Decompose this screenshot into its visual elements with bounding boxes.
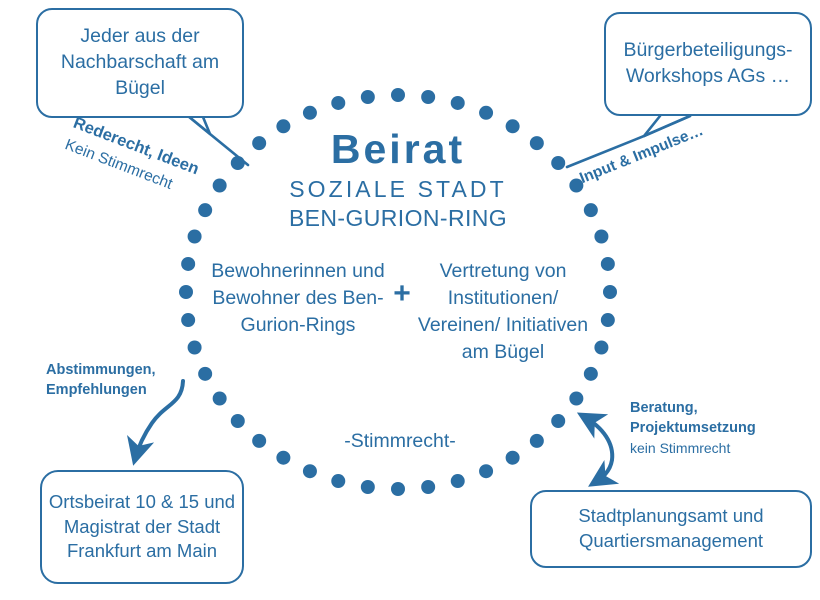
- ring-dot: [188, 341, 202, 355]
- ring-dot: [361, 480, 375, 494]
- label-beratung-line3: kein Stimmrecht: [630, 439, 798, 459]
- ring-dot: [530, 434, 544, 448]
- box-ortsbeirat-magistrat[interactable]: Ortsbeirat 10 & 15 und Magistrat der Sta…: [40, 470, 244, 584]
- ring-dot: [331, 474, 345, 488]
- ring-dot: [451, 96, 465, 110]
- label-beratung-line1: Beratung,: [630, 398, 798, 418]
- ring-dot: [391, 88, 405, 102]
- ring-dot: [421, 90, 435, 104]
- bubble-participation-text: Bürgerbeteiligungs- Workshops AGs …: [606, 38, 810, 90]
- ring-dot: [391, 482, 405, 496]
- ring-dot: [276, 451, 290, 465]
- ring-dot: [506, 451, 520, 465]
- ring-dot: [181, 313, 195, 327]
- ring-dot: [569, 392, 583, 406]
- ring-title-sub2: BEN-GURION-RING: [238, 204, 558, 232]
- ring-dot: [181, 257, 195, 271]
- ring-dot: [451, 474, 465, 488]
- ring-dot: [179, 285, 193, 299]
- arrow-beratung: [583, 416, 612, 483]
- ring-dot: [594, 230, 608, 244]
- box-stadtplanung-text: Stadtplanungsamt und Quartiersmanagement: [532, 504, 810, 553]
- ring-dot: [303, 106, 317, 120]
- ring-dot: [594, 341, 608, 355]
- ring-dot: [231, 414, 245, 428]
- ring-dot: [198, 367, 212, 381]
- plus-icon: +: [390, 276, 414, 313]
- ring-title-main: Beirat: [238, 128, 558, 171]
- box-stadtplanungsamt-quartiersmanagement[interactable]: Stadtplanungsamt und Quartiersmanagement: [530, 490, 812, 568]
- ring-dot: [198, 203, 212, 217]
- bubble-neighbourhood-text: Jeder aus der Nachbarschaft am Bügel: [38, 24, 242, 102]
- label-input-impulse: Input & Impulse…: [577, 122, 706, 188]
- ring-voting-note: -Stimmrecht-: [300, 430, 500, 454]
- label-beratung-projektumsetzung: Beratung, Projektumsetzung kein Stimmrec…: [630, 398, 798, 458]
- ring-dot: [188, 230, 202, 244]
- ring-members-residents: Bewohnerinnen und Bewohner des Ben-Gurio…: [206, 258, 390, 339]
- ring-dot: [584, 203, 598, 217]
- ring-dot: [551, 414, 565, 428]
- ring-dot: [213, 392, 227, 406]
- ring-dot: [479, 106, 493, 120]
- box-ortsbeirat-text: Ortsbeirat 10 & 15 und Magistrat der Sta…: [42, 490, 242, 564]
- ring-dot: [421, 480, 435, 494]
- ring-dot: [603, 285, 617, 299]
- diagram-canvas: Jeder aus der Nachbarschaft am Bügel Bür…: [0, 0, 820, 600]
- label-abstimmungen-empfehlungen: Abstimmungen, Empfehlungen: [46, 360, 196, 400]
- ring-dot: [331, 96, 345, 110]
- label-rederecht-ideen: Rederecht, Ideen Kein Stimmrecht: [61, 112, 202, 203]
- ring-dot: [479, 464, 493, 478]
- ring-title-sub1: SOZIALE STADT: [238, 175, 558, 203]
- label-beratung-line2: Projektumsetzung: [630, 418, 798, 438]
- ring-dot: [361, 90, 375, 104]
- ring-dot: [601, 257, 615, 271]
- ring-dot: [584, 367, 598, 381]
- ring-title-block: Beirat SOZIALE STADT BEN-GURION-RING: [238, 128, 558, 232]
- bubble-neighbourhood[interactable]: Jeder aus der Nachbarschaft am Bügel: [36, 8, 244, 118]
- ring-dot: [213, 178, 227, 192]
- ring-dot: [601, 313, 615, 327]
- ring-members-institutions: Vertretung von Institutionen/ Vereinen/ …: [414, 258, 592, 366]
- ring-dot: [303, 464, 317, 478]
- ring-dot: [252, 434, 266, 448]
- bubble-participation[interactable]: Bürgerbeteiligungs- Workshops AGs …: [604, 12, 812, 116]
